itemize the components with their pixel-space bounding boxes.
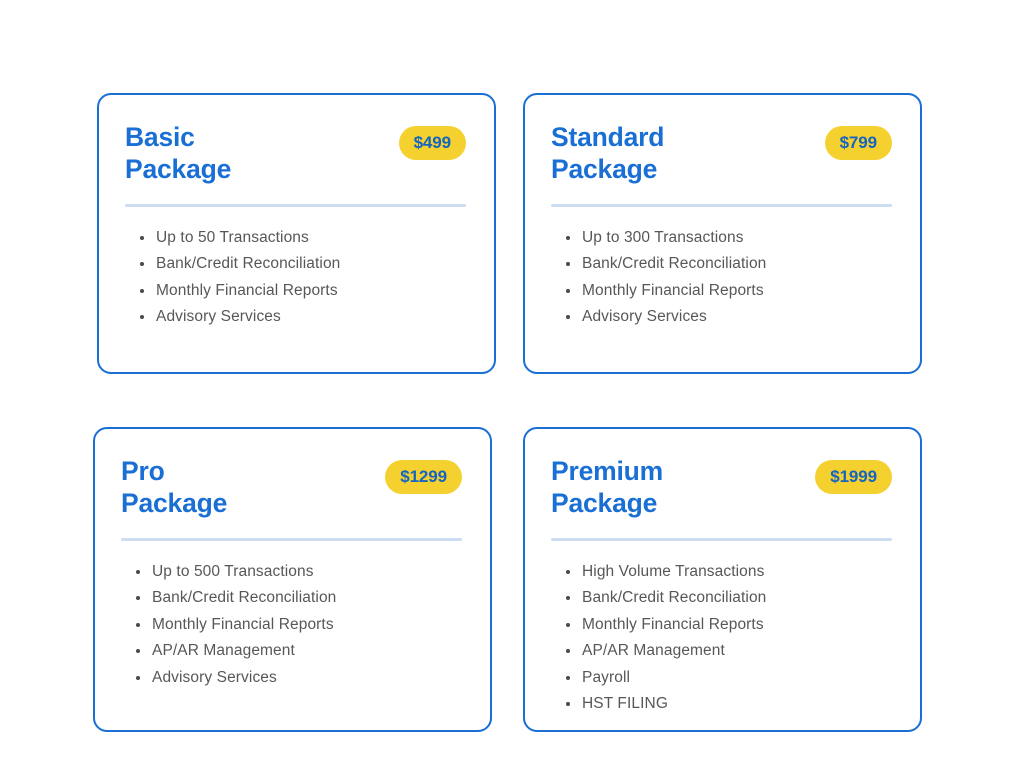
feature-item: Up to 300 Transactions <box>566 230 898 246</box>
feature-item: Monthly Financial Reports <box>136 617 468 633</box>
card-title: Pro Package <box>121 456 227 520</box>
feature-list: Up to 300 Transactions Bank/Credit Recon… <box>525 230 920 325</box>
feature-item: Advisory Services <box>140 309 472 325</box>
price-badge: $799 <box>825 126 892 160</box>
feature-item: Up to 50 Transactions <box>140 230 472 246</box>
card-header: Basic Package $499 <box>99 95 494 186</box>
card-title: Premium Package <box>551 456 663 520</box>
card-header: Premium Package $1999 <box>525 429 920 520</box>
feature-item: Monthly Financial Reports <box>566 617 898 633</box>
card-header: Standard Package $799 <box>525 95 920 186</box>
card-title: Standard Package <box>551 122 664 186</box>
feature-item: Monthly Financial Reports <box>140 283 472 299</box>
card-divider <box>551 204 892 207</box>
card-header: Pro Package $1299 <box>95 429 490 520</box>
pricing-card-grid: Basic Package $499 Up to 50 Transactions… <box>0 0 1024 768</box>
feature-item: Monthly Financial Reports <box>566 283 898 299</box>
feature-item: AP/AR Management <box>566 643 898 659</box>
feature-item: Advisory Services <box>566 309 898 325</box>
pricing-card-premium[interactable]: Premium Package $1999 High Volume Transa… <box>523 427 922 732</box>
feature-list: High Volume Transactions Bank/Credit Rec… <box>525 564 920 712</box>
feature-item: Payroll <box>566 670 898 686</box>
feature-item: Advisory Services <box>136 670 468 686</box>
card-divider <box>121 538 462 541</box>
feature-item: Bank/Credit Reconciliation <box>140 256 472 272</box>
feature-item: High Volume Transactions <box>566 564 898 580</box>
feature-item: Up to 500 Transactions <box>136 564 468 580</box>
feature-item: AP/AR Management <box>136 643 468 659</box>
price-badge: $1299 <box>385 460 462 494</box>
feature-item: HST FILING <box>566 696 898 712</box>
card-divider <box>125 204 466 207</box>
card-title: Basic Package <box>125 122 231 186</box>
pricing-card-standard[interactable]: Standard Package $799 Up to 300 Transact… <box>523 93 922 374</box>
feature-item: Bank/Credit Reconciliation <box>566 256 898 272</box>
card-divider <box>551 538 892 541</box>
pricing-card-pro[interactable]: Pro Package $1299 Up to 500 Transactions… <box>93 427 492 732</box>
feature-list: Up to 50 Transactions Bank/Credit Reconc… <box>99 230 494 325</box>
price-badge: $1999 <box>815 460 892 494</box>
pricing-card-basic[interactable]: Basic Package $499 Up to 50 Transactions… <box>97 93 496 374</box>
feature-list: Up to 500 Transactions Bank/Credit Recon… <box>95 564 490 686</box>
feature-item: Bank/Credit Reconciliation <box>136 590 468 606</box>
price-badge: $499 <box>399 126 466 160</box>
feature-item: Bank/Credit Reconciliation <box>566 590 898 606</box>
